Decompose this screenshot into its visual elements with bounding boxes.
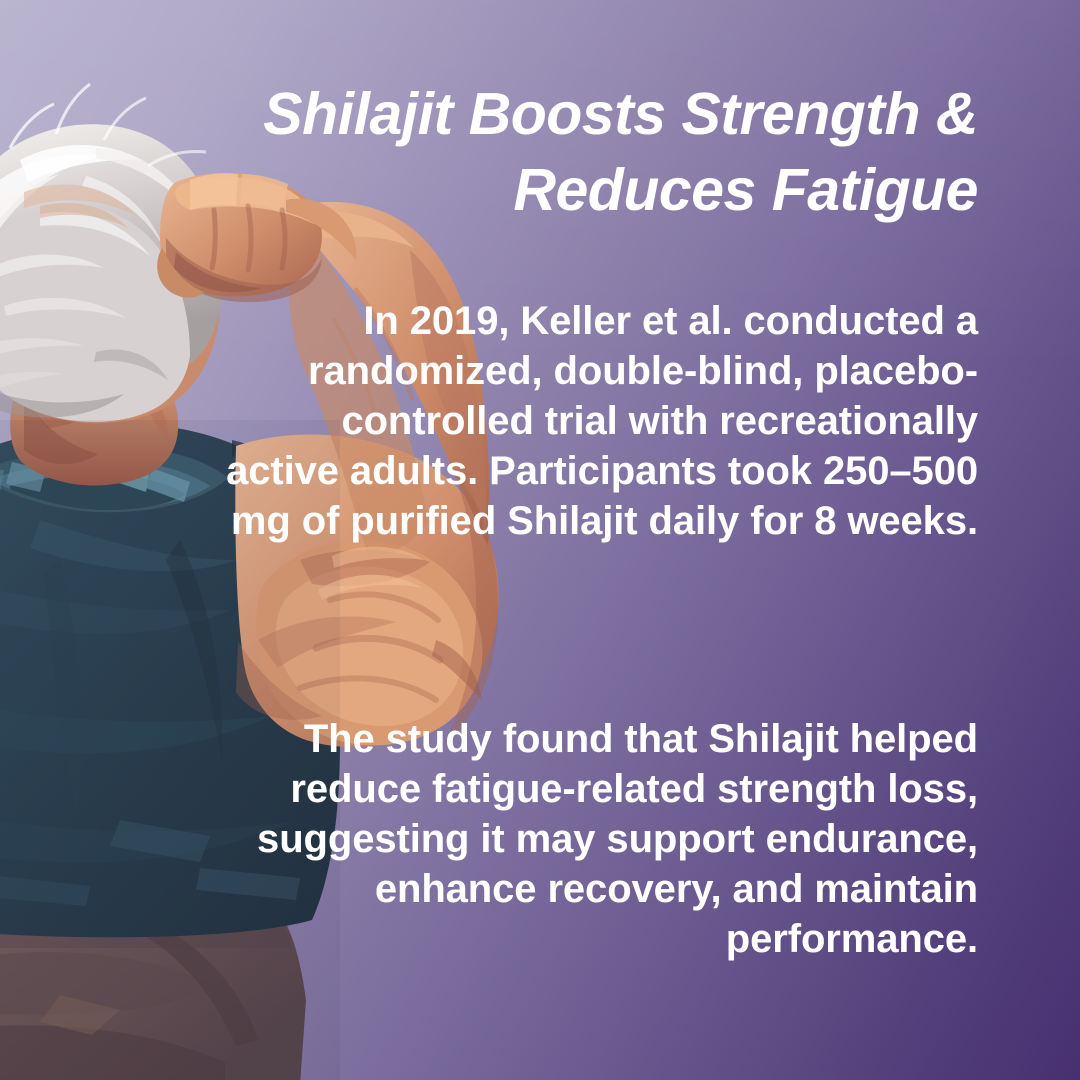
body-paragraph-1: In 2019, Keller et al. conducted a rando…: [218, 296, 978, 546]
infographic-card: Shilajit Boosts Strength & Reduces Fatig…: [0, 0, 1080, 1080]
body-paragraph-2: The study found that Shilajit helped red…: [218, 714, 978, 964]
page-title: Shilajit Boosts Strength & Reduces Fatig…: [180, 76, 978, 228]
text-column: Shilajit Boosts Strength & Reduces Fatig…: [180, 0, 978, 1080]
